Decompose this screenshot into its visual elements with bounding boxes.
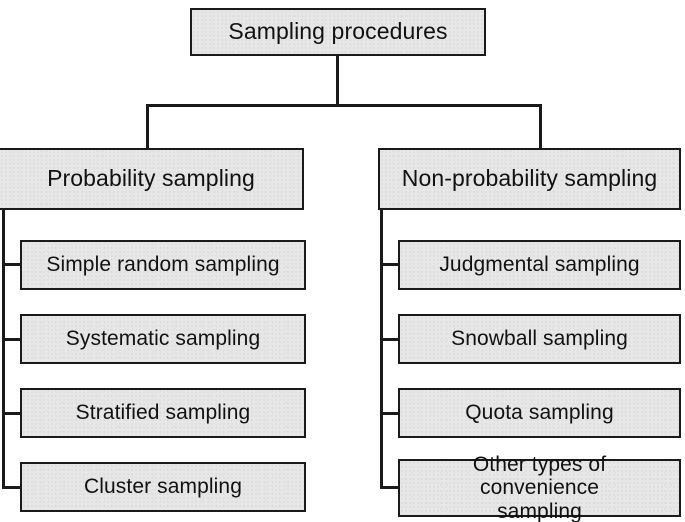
node-stratified-sampling[interactable]: Stratified sampling [20, 388, 306, 438]
node-label-line1: Other types of convenience [406, 453, 673, 500]
node-quota-sampling[interactable]: Quota sampling [398, 388, 681, 438]
connector-spine-non-probability [380, 209, 383, 488]
node-label: Simple random sampling [40, 253, 285, 277]
connector-root-stem [336, 55, 339, 107]
node-label: Cluster sampling [78, 475, 248, 499]
connector-stub-quota-sampling [380, 412, 400, 415]
node-label: Sampling procedures [222, 19, 453, 45]
connector-stub-systematic-sampling [2, 338, 22, 341]
node-root-sampling-procedures[interactable]: Sampling procedures [190, 8, 486, 56]
node-label: Other types of convenience sampling [400, 453, 679, 522]
connector-stub-judgmental-sampling [380, 263, 400, 266]
node-label: Non-probability sampling [396, 166, 664, 192]
connector-spine-probability [2, 209, 5, 488]
node-systematic-sampling[interactable]: Systematic sampling [20, 314, 306, 364]
node-label: Quota sampling [459, 401, 619, 425]
node-label: Stratified sampling [70, 401, 257, 425]
connector-stub-simple-random-sampling [2, 263, 22, 266]
node-cluster-sampling[interactable]: Cluster sampling [20, 462, 306, 512]
connector-drop-probability [146, 104, 149, 150]
node-non-probability-sampling[interactable]: Non-probability sampling [378, 148, 681, 210]
connector-stub-cluster-sampling [2, 486, 22, 489]
node-label-line2: sampling [406, 500, 673, 522]
node-simple-random-sampling[interactable]: Simple random sampling [20, 240, 306, 290]
node-judgmental-sampling[interactable]: Judgmental sampling [398, 240, 681, 290]
sampling-procedures-diagram: Sampling procedures Probability sampling… [0, 0, 685, 522]
connector-drop-non-probability [539, 104, 542, 150]
node-label: Probability sampling [41, 166, 261, 192]
node-snowball-sampling[interactable]: Snowball sampling [398, 314, 681, 364]
connector-root-branch-bar [146, 104, 542, 107]
node-label: Systematic sampling [60, 327, 266, 351]
connector-stub-snowball-sampling [380, 338, 400, 341]
node-probability-sampling[interactable]: Probability sampling [0, 148, 304, 210]
node-label: Snowball sampling [445, 327, 634, 351]
node-label: Judgmental sampling [433, 253, 645, 277]
connector-stub-stratified-sampling [2, 412, 22, 415]
node-other-convenience-sampling[interactable]: Other types of convenience sampling [398, 459, 681, 517]
connector-stub-other-convenience-sampling [380, 486, 400, 489]
